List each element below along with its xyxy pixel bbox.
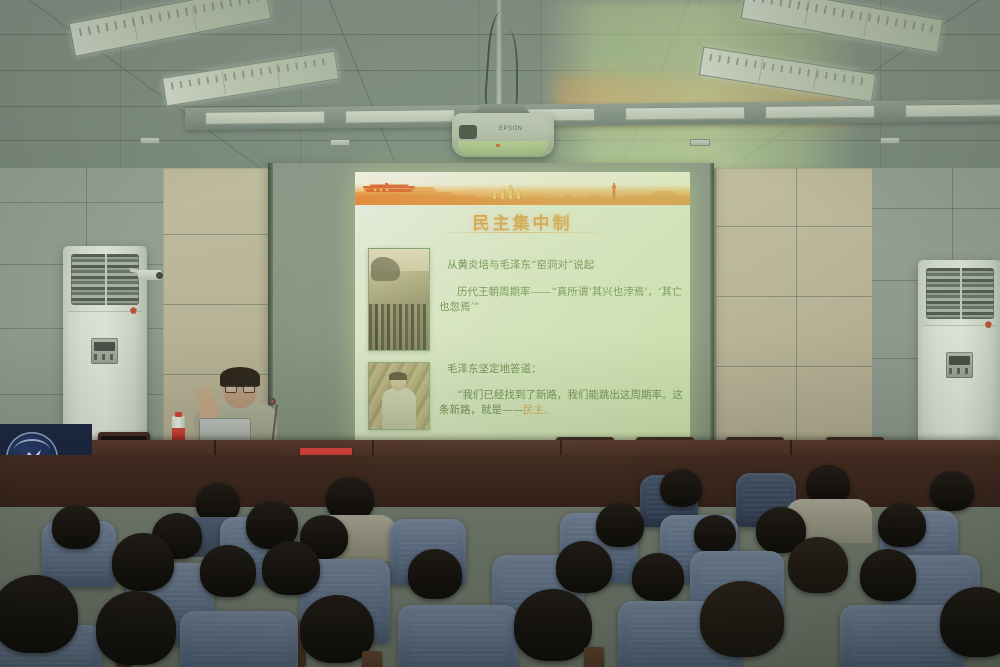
audience-head xyxy=(96,591,176,665)
auditorium-seat[interactable] xyxy=(398,605,518,667)
audience-head xyxy=(788,537,848,593)
ceiling: EPSON xyxy=(0,0,1000,172)
audience-head xyxy=(514,589,592,661)
audience-head xyxy=(860,549,916,601)
seat-armrest xyxy=(584,647,604,667)
audience-head xyxy=(940,587,1000,657)
ceiling-light-panel xyxy=(69,0,272,57)
ceiling-vent xyxy=(330,139,350,146)
projector-glow xyxy=(458,141,548,155)
lecture-hall-scene: EPSON xyxy=(0,0,1000,667)
audience-head xyxy=(262,541,320,595)
ac-control-panel[interactable] xyxy=(91,338,119,363)
ceiling-vent xyxy=(880,137,900,144)
audience-head xyxy=(596,503,644,547)
projector-cable xyxy=(500,30,518,110)
projector-lens xyxy=(459,125,477,139)
audience-head xyxy=(694,515,736,553)
audience-head xyxy=(930,471,974,511)
ac-unit-right xyxy=(918,260,1000,456)
audience-seating xyxy=(0,455,1000,667)
slide-line-quote-one: 历代王朝周期率——“真所谓‘其兴也浡焉’，‘其亡也忽焉’” xyxy=(439,285,683,315)
security-camera xyxy=(130,268,164,283)
slide-title: 民主集中制 xyxy=(355,209,690,234)
audience-head xyxy=(878,503,926,547)
slide-line-lead: 毛泽东坚定地答道： xyxy=(447,362,679,377)
auditorium-seat[interactable] xyxy=(180,611,298,667)
projector-brand-label: EPSON xyxy=(499,126,523,132)
slide-line-intro: 从黄炎培与毛泽东“窑洞对”说起 xyxy=(447,258,679,273)
projected-slide: 民主集中制 从黄炎培与毛泽东“窑洞对”说起 历代王朝周期率——“真所谓‘其兴也浡… xyxy=(355,172,690,458)
audience-head xyxy=(408,549,462,599)
title-divider xyxy=(429,232,617,233)
mao-portrait-photo xyxy=(368,362,430,430)
projector: EPSON xyxy=(452,113,554,157)
audience-head xyxy=(632,553,684,601)
ceiling-light-panel xyxy=(162,50,339,106)
historical-group-photo xyxy=(368,248,430,351)
ceiling-vent xyxy=(140,137,160,144)
slide-header-banner xyxy=(355,172,690,205)
seat-armrest xyxy=(362,651,382,667)
ceiling-vent xyxy=(690,139,710,146)
slide-quote-two-plain: “我们已经找到了新路，我们能跳出这周期率。这条新路，就是—— xyxy=(439,389,683,416)
audience-head xyxy=(556,541,612,593)
slide-line-quote-two: “我们已经找到了新路，我们能跳出这周期率。这条新路，就是——民主。 xyxy=(439,388,683,418)
audience-head xyxy=(0,575,78,653)
audience-head xyxy=(112,533,174,591)
ac-control-panel[interactable] xyxy=(946,352,974,377)
eyeglasses-icon xyxy=(225,386,255,393)
audience-head xyxy=(52,505,100,549)
audience-head xyxy=(200,545,256,597)
city-skyline-icon xyxy=(355,183,690,205)
audience-head xyxy=(700,581,784,657)
audience-head xyxy=(660,469,702,507)
slide-quote-two-accent: 民主。 xyxy=(523,404,555,416)
